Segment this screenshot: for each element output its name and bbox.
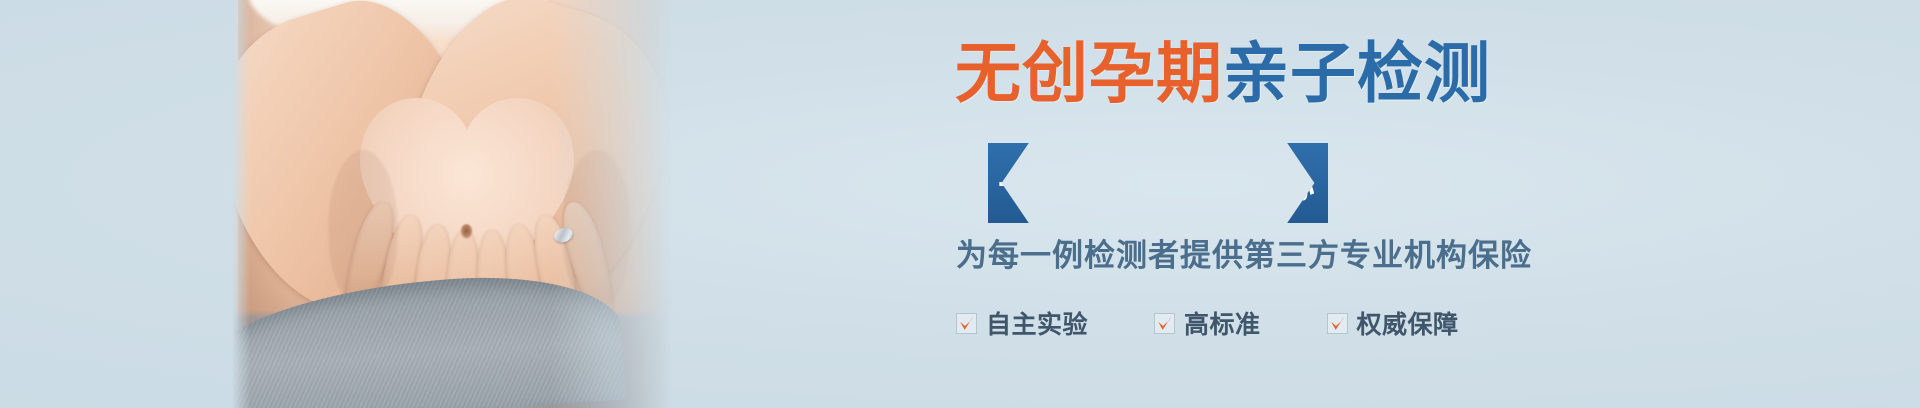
feature-label: 自主实验	[986, 305, 1088, 341]
pregnant-belly-photo	[232, 0, 702, 408]
banner-content: 无创孕期亲子检测 一次检测•准确安心 为每一例检测者提供第三方专业机构保险 自主…	[770, 0, 1550, 408]
headline-part-blue: 亲子检测	[1223, 36, 1491, 110]
photo-navel	[460, 224, 473, 241]
checkmark-icon	[1154, 313, 1175, 334]
feature-label: 高标准	[1184, 305, 1261, 341]
feature-list: 自主实验 高标准 权威保障	[956, 305, 1459, 341]
promo-banner: 无创孕期亲子检测 一次检测•准确安心 为每一例检测者提供第三方专业机构保险 自主…	[0, 0, 1920, 408]
feature-item: 高标准	[1154, 305, 1261, 341]
feature-label: 权威保障	[1357, 305, 1459, 341]
feature-item: 自主实验	[956, 305, 1088, 341]
tagline-ribbon-label: 一次检测•准确安心	[998, 158, 1317, 209]
checkmark-icon	[1327, 313, 1348, 334]
feature-item: 权威保障	[1327, 305, 1459, 341]
checkmark-icon	[956, 313, 977, 334]
headline-part-orange: 无创孕期	[955, 36, 1223, 110]
banner-headline: 无创孕期亲子检测	[955, 40, 1491, 106]
banner-subtitle: 为每一例检测者提供第三方专业机构保险	[956, 230, 1532, 275]
tagline-ribbon: 一次检测•准确安心	[988, 143, 1328, 223]
photo-hand-shadow	[562, 150, 632, 310]
